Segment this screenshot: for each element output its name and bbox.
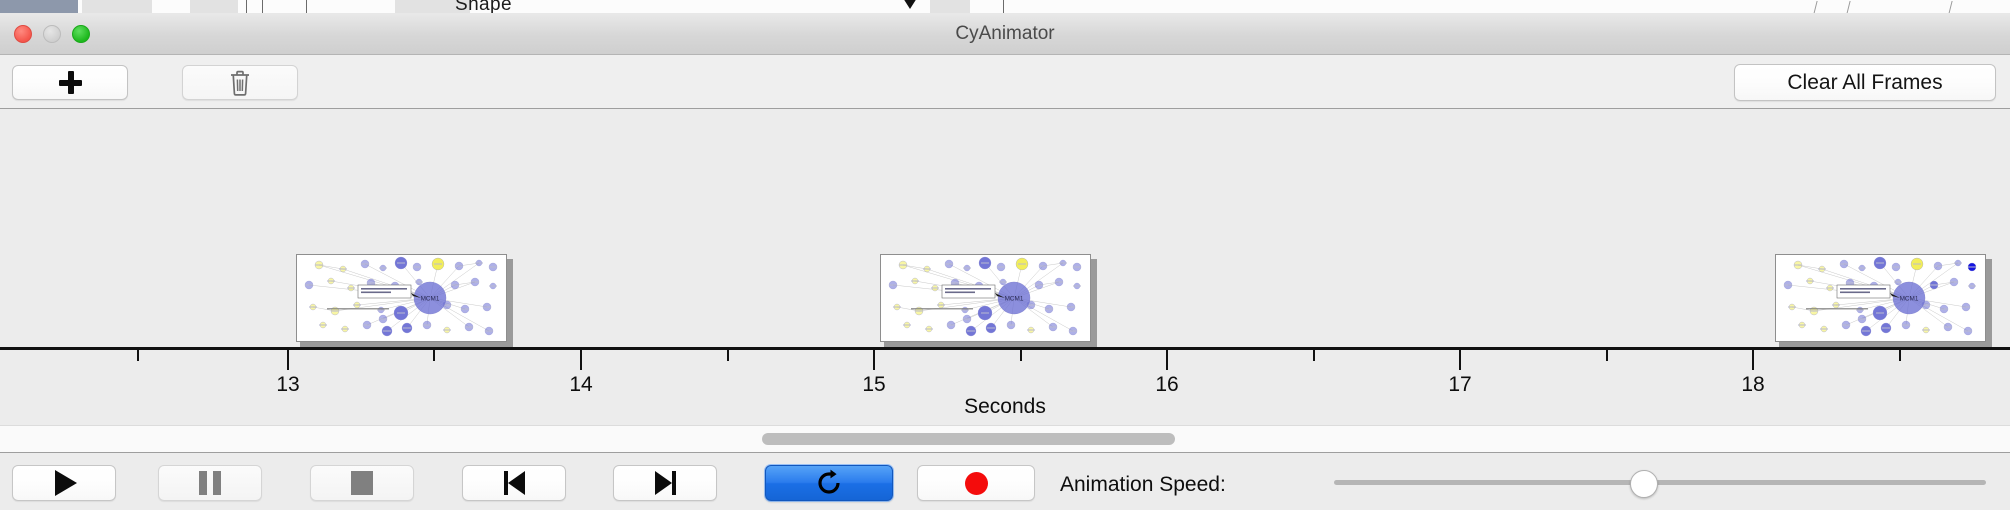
window-titlebar: CyAnimator bbox=[0, 13, 2010, 55]
loop-icon bbox=[815, 469, 843, 497]
background-divider bbox=[262, 0, 263, 13]
slider-thumb[interactable] bbox=[1630, 470, 1658, 498]
ruler-tick-minor bbox=[727, 350, 729, 361]
trash-icon bbox=[229, 70, 251, 96]
timeline-ruler[interactable]: 2131415161718 bbox=[0, 347, 2010, 379]
keyframe-image: MCM1 bbox=[1775, 254, 1986, 342]
ruler-tick-minor bbox=[1020, 350, 1022, 361]
background-toolbar-chip bbox=[190, 0, 238, 13]
keyframe-thumbnail[interactable]: MCM1 bbox=[880, 254, 1097, 347]
ruler-tick-label: 16 bbox=[1155, 373, 1178, 397]
network-thumbnail: MCM1 bbox=[297, 255, 506, 341]
ruler-tick-minor bbox=[1313, 350, 1315, 361]
loop-button[interactable] bbox=[765, 465, 893, 501]
screen: Shape CyAnimator bbox=[0, 0, 2010, 510]
ruler-tick-minor bbox=[1899, 350, 1901, 361]
ruler-tick-minor bbox=[433, 350, 435, 361]
skip-next-icon bbox=[655, 471, 676, 495]
timeline-panel[interactable]: MCM1MCM1MCM1 2131415161718 Seconds bbox=[0, 109, 2010, 425]
ruler-tick-minor bbox=[137, 350, 139, 361]
play-button[interactable] bbox=[12, 465, 116, 501]
clear-all-frames-button[interactable]: Clear All Frames bbox=[1734, 64, 1996, 101]
network-thumbnail: MCM1 bbox=[1776, 255, 1985, 341]
stop-button[interactable] bbox=[310, 465, 414, 501]
background-toolbar-chip bbox=[930, 0, 970, 13]
keyframe-thumbnail[interactable]: MCM1 bbox=[296, 254, 513, 347]
pause-icon bbox=[199, 471, 221, 495]
delete-frame-button[interactable] bbox=[182, 65, 298, 100]
background-window-strip: Shape bbox=[0, 0, 2010, 14]
ruler-tick-major bbox=[873, 350, 875, 370]
background-divider bbox=[1003, 0, 1004, 13]
ruler-baseline bbox=[0, 347, 2010, 350]
window-title: CyAnimator bbox=[0, 23, 2010, 45]
background-divider bbox=[306, 0, 307, 13]
slider-track[interactable] bbox=[1334, 480, 1986, 485]
background-window-titlebar bbox=[0, 0, 78, 13]
ruler-tick-major bbox=[580, 350, 582, 370]
ruler-tick-major bbox=[1166, 350, 1168, 370]
ruler-tick-major bbox=[287, 350, 289, 370]
timeline-scrollbar[interactable] bbox=[0, 425, 2010, 452]
ruler-tick-label: 15 bbox=[862, 373, 885, 397]
play-icon bbox=[55, 470, 77, 496]
keyframe-image: MCM1 bbox=[296, 254, 507, 342]
axis-title: Seconds bbox=[0, 395, 2010, 419]
ruler-tick-label: 14 bbox=[569, 373, 592, 397]
ruler-tick-label: 17 bbox=[1448, 373, 1471, 397]
clear-all-frames-label: Clear All Frames bbox=[1787, 71, 1942, 95]
network-thumbnail: MCM1 bbox=[881, 255, 1090, 341]
toolbar: Clear All Frames bbox=[0, 55, 2010, 109]
add-frame-button[interactable] bbox=[12, 65, 128, 100]
skip-end-button[interactable] bbox=[613, 465, 717, 501]
record-icon bbox=[965, 472, 988, 495]
svg-text:MCM1: MCM1 bbox=[421, 296, 440, 303]
svg-text:MCM1: MCM1 bbox=[1005, 296, 1024, 303]
cyanimator-window: CyAnimator Clear All Frames bbox=[0, 13, 2010, 510]
pause-button[interactable] bbox=[158, 465, 262, 501]
keyframe-image: MCM1 bbox=[880, 254, 1091, 342]
background-divider bbox=[246, 0, 247, 13]
background-toolbar-chip bbox=[82, 0, 152, 13]
ruler-tick-label: 13 bbox=[276, 373, 299, 397]
ruler-tick-minor bbox=[1606, 350, 1608, 361]
skip-start-button[interactable] bbox=[462, 465, 566, 501]
svg-text:MCM1: MCM1 bbox=[1900, 296, 1919, 303]
ruler-tick-major bbox=[1459, 350, 1461, 370]
stop-icon bbox=[351, 471, 373, 495]
plus-icon bbox=[59, 71, 82, 94]
animation-speed-label: Animation Speed: bbox=[1060, 473, 1226, 497]
animation-speed-slider[interactable] bbox=[1334, 465, 1986, 501]
keyframe-thumbnail[interactable]: MCM1 bbox=[1775, 254, 1992, 347]
background-cursor-icon bbox=[903, 0, 917, 9]
background-window-label: Shape bbox=[455, 0, 512, 14]
playback-controls: Animation Speed: bbox=[0, 452, 2010, 510]
skip-previous-icon bbox=[504, 471, 525, 495]
record-button[interactable] bbox=[917, 465, 1035, 501]
ruler-tick-label: 18 bbox=[1741, 373, 1764, 397]
ruler-tick-major bbox=[1752, 350, 1754, 370]
timeline-scrollbar-thumb[interactable] bbox=[762, 433, 1175, 445]
